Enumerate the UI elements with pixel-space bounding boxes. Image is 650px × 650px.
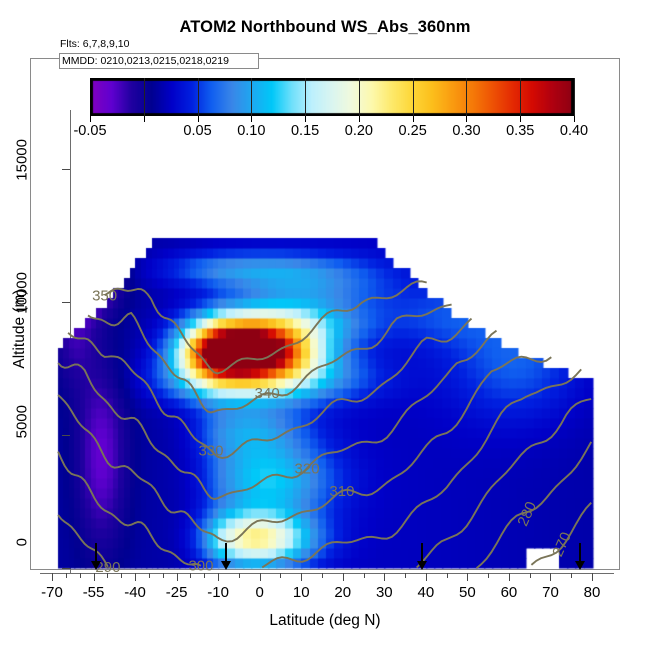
x-tick-0 xyxy=(260,573,261,581)
x-tick--70 xyxy=(52,573,53,581)
x-minor-tick xyxy=(149,573,150,578)
x-tick-label-50: 50 xyxy=(459,584,476,601)
x-minor-tick xyxy=(447,573,448,578)
x-minor-tick xyxy=(163,573,164,578)
x-minor-tick xyxy=(364,573,365,578)
x-minor-tick xyxy=(66,573,67,578)
x-minor-tick xyxy=(204,573,205,578)
x-minor-tick xyxy=(80,573,81,578)
y-tick-15000 xyxy=(62,169,70,170)
y-tick-label-0: 0 xyxy=(14,538,31,598)
x-tick-label-20: 20 xyxy=(334,584,351,601)
x-tick-label--10: -10 xyxy=(207,584,229,601)
figure-canvas: ATOM2 Northbound WS_Abs_360nm Flts: 6,7,… xyxy=(0,0,650,650)
x-tick--25 xyxy=(177,573,178,581)
x-minor-tick xyxy=(530,573,531,578)
x-minor-tick xyxy=(571,573,572,578)
y-tick-label-10000: 10000 xyxy=(14,272,31,332)
x-axis-title: Latitude (deg N) xyxy=(0,612,650,630)
x-tick-label-40: 40 xyxy=(418,584,435,601)
y-tick-label-15000: 15000 xyxy=(14,139,31,199)
x-minor-tick xyxy=(121,573,122,578)
x-tick-20 xyxy=(343,573,344,581)
x-tick--40 xyxy=(135,573,136,581)
x-tick-label-70: 70 xyxy=(542,584,559,601)
y-tick-0 xyxy=(62,568,70,569)
x-tick-60 xyxy=(509,573,510,581)
y-tick-5000 xyxy=(62,435,70,436)
x-tick-label-60: 60 xyxy=(501,584,518,601)
x-tick-label-0: 0 xyxy=(256,584,264,601)
x-tick-label--25: -25 xyxy=(166,584,188,601)
x-tick-70 xyxy=(550,573,551,581)
x-tick--10 xyxy=(218,573,219,581)
x-minor-tick xyxy=(239,573,240,578)
x-tick-40 xyxy=(426,573,427,581)
y-tick-10000 xyxy=(62,302,70,303)
x-minor-tick xyxy=(488,573,489,578)
x-tick-30 xyxy=(384,573,385,581)
x-tick-10 xyxy=(301,573,302,581)
x-tick-label-10: 10 xyxy=(293,584,310,601)
x-tick-label--40: -40 xyxy=(124,584,146,601)
x-tick-label-80: 80 xyxy=(584,584,601,601)
x-minor-tick xyxy=(107,573,108,578)
x-minor-tick xyxy=(322,573,323,578)
x-minor-tick xyxy=(280,573,281,578)
x-tick-label--55: -55 xyxy=(83,584,105,601)
x-minor-tick xyxy=(405,573,406,578)
x-tick-label-30: 30 xyxy=(376,584,393,601)
x-tick-label--70: -70 xyxy=(41,584,63,601)
x-tick--55 xyxy=(94,573,95,581)
x-minor-tick xyxy=(190,573,191,578)
x-tick-80 xyxy=(592,573,593,581)
heatmap-data xyxy=(0,0,650,650)
y-tick-label-5000: 5000 xyxy=(14,405,31,465)
x-tick-50 xyxy=(467,573,468,581)
